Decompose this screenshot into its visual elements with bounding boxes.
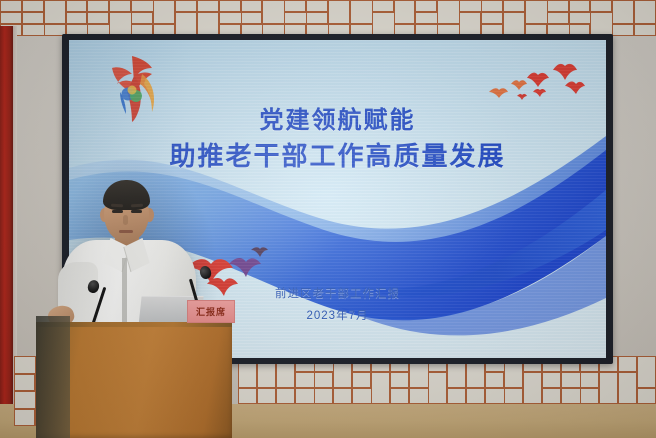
podium-sign: 汇报席 <box>187 300 235 323</box>
lattice-cell <box>153 0 175 24</box>
lattice-cell <box>580 388 599 404</box>
lattice-cell <box>459 12 481 36</box>
lattice-cell <box>547 0 569 12</box>
lattice-cell <box>481 0 503 12</box>
slide-title-block: 党建领航赋能 助推老干部工作高质量发展 <box>69 106 606 173</box>
lattice-cell <box>634 24 656 36</box>
lattice-cell <box>504 388 523 404</box>
lattice-cell <box>87 0 109 12</box>
presenter-mouth <box>119 230 133 233</box>
lattice-cell <box>333 388 352 404</box>
lattice-cell <box>503 0 525 12</box>
presenter-nose <box>123 215 128 225</box>
lattice-cell <box>415 0 437 12</box>
lattice-cell <box>352 372 371 388</box>
lattice-cell <box>87 12 109 24</box>
lattice-cell <box>241 12 263 24</box>
lattice-cell <box>599 372 618 404</box>
lattice-cell <box>612 24 634 36</box>
lattice-cell <box>394 0 416 24</box>
lattice-cell <box>618 356 637 372</box>
lattice-cell <box>284 0 306 12</box>
lattice-cell <box>22 0 44 12</box>
lattice-cell <box>306 12 328 24</box>
presenter-eye-right <box>131 210 142 213</box>
lattice-cell <box>580 372 599 388</box>
lattice-cell <box>314 388 333 404</box>
lattice-cell <box>390 388 409 404</box>
lattice-cell <box>66 12 88 24</box>
lattice-cell <box>197 12 219 36</box>
lattice-cell <box>14 374 35 392</box>
slide-title-line-1: 党建领航赋能 <box>69 106 606 136</box>
lattice-cell <box>14 409 35 427</box>
lattice-cell <box>109 0 131 12</box>
lattice-cell <box>612 0 634 24</box>
lattice-cell <box>314 372 333 388</box>
lattice-cell <box>466 388 485 404</box>
red-pillar-strip <box>0 26 13 438</box>
lattice-cell <box>306 0 328 12</box>
lattice-cell <box>328 0 350 24</box>
lattice-cell <box>241 0 263 12</box>
lattice-cell <box>276 388 295 404</box>
lattice-cell <box>131 12 153 24</box>
presenter-shirt-placket <box>122 258 127 328</box>
lattice-cell <box>175 12 197 36</box>
presenter-eyebrow-left <box>111 204 123 207</box>
podium-sign-label: 汇报席 <box>196 305 226 318</box>
lattice-cell <box>372 0 394 12</box>
lattice-cell <box>485 372 504 388</box>
lattice-cell <box>547 12 569 24</box>
lattice-cell <box>428 372 447 404</box>
lattice-cell <box>637 388 656 404</box>
lattice-cell <box>44 0 66 24</box>
lattice-cell <box>22 12 44 24</box>
lattice-cell <box>0 12 22 24</box>
slide-title-line-2: 助推老干部工作高质量发展 <box>69 140 606 173</box>
presentation-photo-scene: 党建领航赋能 助推老干部工作高质量发展 前进区老干部工作汇报 2023年7月 <box>0 0 656 438</box>
lattice-cell <box>447 388 466 404</box>
lattice-cell <box>590 0 612 12</box>
lattice-cell <box>542 388 561 404</box>
lattice-cell <box>197 0 219 12</box>
lattice-cell <box>257 388 276 404</box>
lattice-cell <box>618 372 637 404</box>
wooden-lattice-panel-top <box>0 0 656 36</box>
lattice-cell <box>371 372 390 404</box>
lattice-cell <box>637 356 656 388</box>
lattice-cell <box>0 0 22 12</box>
lattice-cell <box>523 372 542 404</box>
podium-side-shadow <box>36 316 70 438</box>
lattice-cell <box>569 0 591 12</box>
lattice-cell <box>175 0 197 12</box>
presenter-eye-left <box>112 210 123 213</box>
lattice-cell <box>503 12 525 36</box>
lattice-cell <box>219 0 241 12</box>
lattice-cell <box>634 0 656 24</box>
lattice-cell <box>542 372 561 388</box>
lattice-cell <box>390 372 409 388</box>
lattice-cell <box>66 0 88 12</box>
lattice-cell <box>481 12 503 24</box>
flying-birds-decoration-top <box>467 58 585 110</box>
lattice-cell <box>238 388 257 404</box>
